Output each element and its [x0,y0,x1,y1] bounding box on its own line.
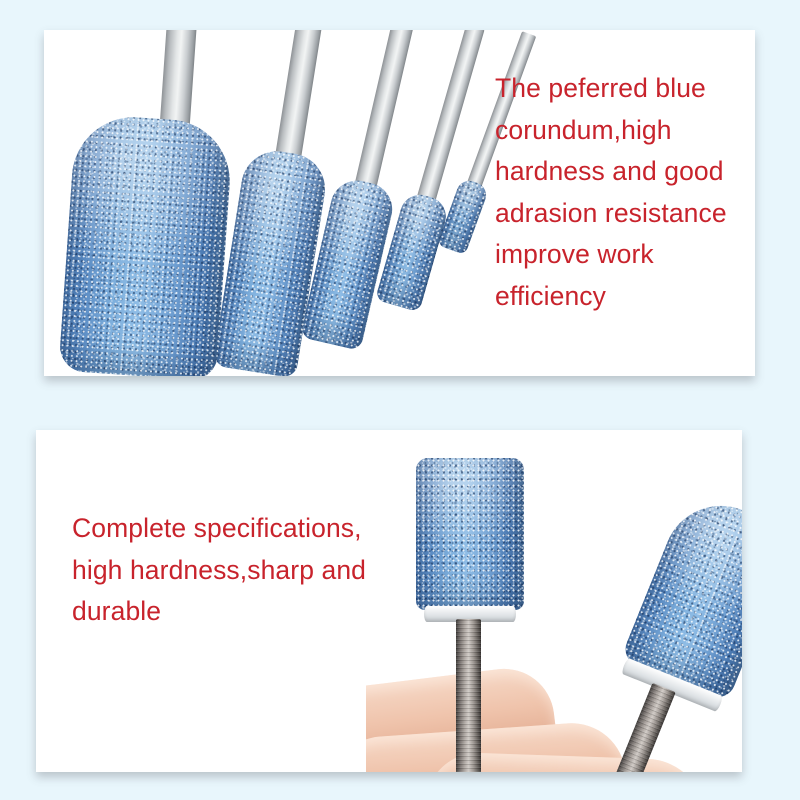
steel-shank-cylinder [456,619,481,772]
steel-shank-3 [353,30,414,196]
feature-text-top: The peferred blue corundum,high hardness… [495,68,745,317]
mounted-point-cylinder [388,458,548,772]
mounted-point-1 [52,30,250,376]
abrasive-head-cylinder [416,458,524,610]
hand-holding-two-mounted-points-photo [366,430,742,772]
feature-panel-top: The peferred blue corundum,high hardness… [44,30,755,376]
feature-text-bottom: Complete specifications, high hardness,s… [72,508,402,633]
feature-panel-bottom: Complete specifications, high hardness,s… [36,430,742,772]
abrasive-head-1 [58,113,234,376]
steel-shank-bullet [596,683,675,772]
steel-shank-2 [274,30,323,167]
blue-corundum-mounted-points-row-photo [44,30,472,376]
